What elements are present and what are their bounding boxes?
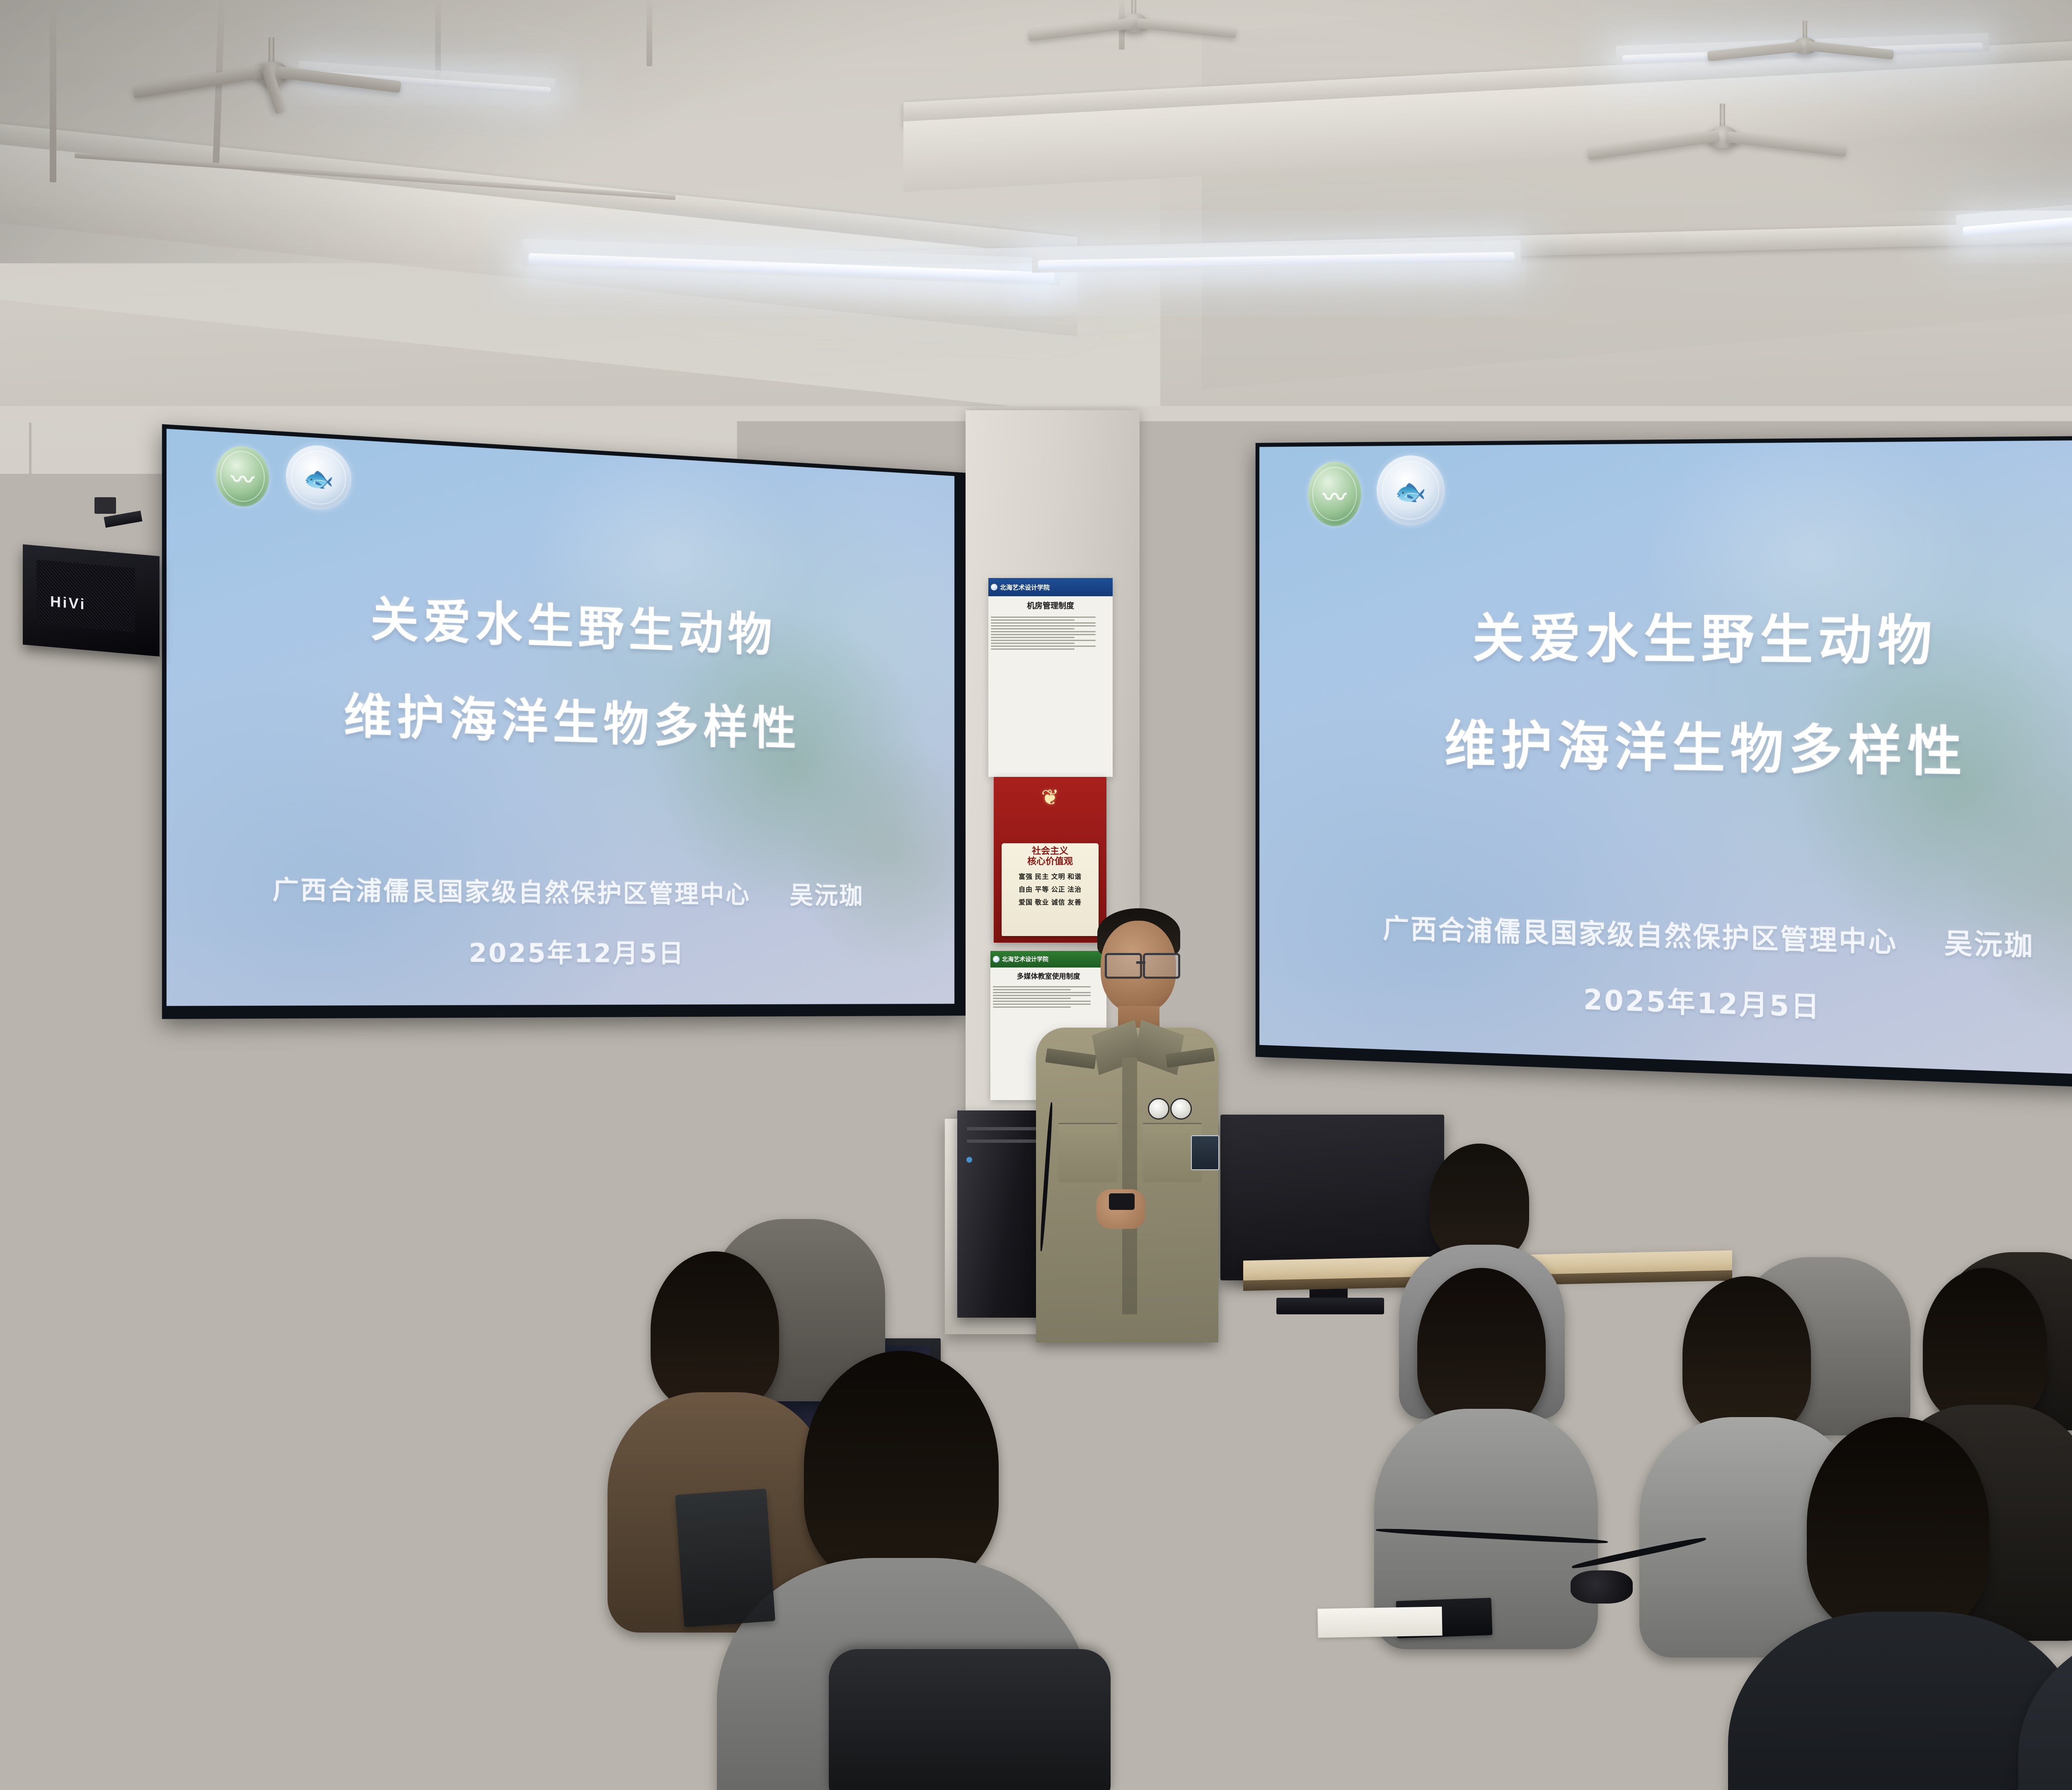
slide-title-line1: 关爱水生野生动物 bbox=[167, 572, 954, 671]
student-head bbox=[651, 1251, 779, 1409]
left-projection-screen: 〰 🐟 关爱水生野生动物 维护海洋生物多样性 广西合浦儒艮国家级自然保护区管理中… bbox=[162, 424, 966, 1019]
ceiling-fan-1 bbox=[166, 37, 381, 128]
uniform-badge-1 bbox=[1148, 1098, 1169, 1120]
aquatic-wildlife-emblem: 🐟 bbox=[1377, 455, 1445, 525]
projector-mount bbox=[94, 497, 116, 514]
uniform-badge-2 bbox=[1170, 1098, 1192, 1120]
fan-rod bbox=[269, 37, 274, 65]
uniform-button-placket bbox=[1122, 1057, 1137, 1314]
slide-presenter-name: 吴沅珈 bbox=[789, 881, 864, 910]
core-values-heading-1: 社会主义 bbox=[1003, 846, 1097, 856]
poster-header-bar: 北海艺术设计学院 bbox=[988, 578, 1113, 596]
school-logo-icon bbox=[991, 584, 997, 590]
poster-header-text: 北海艺术设计学院 bbox=[1000, 583, 1050, 592]
slide-date: 2025年12月5日 bbox=[1259, 967, 2072, 1037]
uniform-chest-pocket-left bbox=[1058, 1123, 1117, 1182]
student-head bbox=[224, 1525, 419, 1757]
student-head bbox=[294, 1131, 394, 1247]
ceiling-fan-2 bbox=[1048, 0, 1227, 70]
fan-blade bbox=[1806, 41, 1894, 60]
student-shoulders bbox=[414, 1409, 630, 1645]
student-head bbox=[1430, 1144, 1529, 1260]
student-head bbox=[431, 1127, 530, 1247]
poster-lab-rules: 北海艺术设计学院 机房管理制度 bbox=[988, 578, 1113, 777]
nature-reserve-emblem: 〰 bbox=[1308, 462, 1361, 526]
slide-presenter-name: 吴沅珈 bbox=[1944, 927, 2035, 962]
core-values-heading-2: 核心价值观 bbox=[1003, 856, 1097, 866]
emblem-glyph: 🐟 bbox=[1395, 477, 1426, 507]
student-head bbox=[66, 1284, 191, 1434]
fan-blade bbox=[1137, 18, 1237, 39]
student-head bbox=[744, 1110, 848, 1235]
slide-organization: 广西合浦儒艮国家级自然保护区管理中心 bbox=[1383, 913, 1898, 958]
nature-reserve-emblem: 〰 bbox=[216, 445, 269, 508]
monitor-stand-base bbox=[1276, 1298, 1384, 1314]
ceiling-fan-3 bbox=[1616, 104, 1832, 191]
slide-title-line1: 关爱水生野生动物 bbox=[1259, 595, 2072, 677]
wall-seam-left bbox=[29, 423, 31, 1127]
core-values-row-2: 自由 平等 公正 法治 bbox=[1003, 884, 1097, 894]
student-head bbox=[588, 1110, 692, 1235]
paper-sheet bbox=[1317, 1606, 1442, 1638]
hivi-wall-speaker: HiVi bbox=[23, 544, 160, 657]
lcd-monitor bbox=[1220, 1115, 1444, 1280]
aquatic-wildlife-emblem: 🐟 bbox=[286, 444, 351, 511]
slide-title-line2: 维护海洋生物多样性 bbox=[1259, 701, 2072, 790]
emblem-glyph: 〰 bbox=[1323, 478, 1346, 513]
emblem-glyph: 〰 bbox=[231, 461, 254, 494]
tower-power-led bbox=[966, 1157, 972, 1163]
student-head bbox=[1807, 1417, 1989, 1633]
slide-date: 2025年12月5日 bbox=[167, 930, 954, 970]
school-logo-icon bbox=[993, 956, 1000, 963]
student-head bbox=[804, 1351, 999, 1583]
backpack bbox=[829, 1649, 1111, 1790]
student-head bbox=[1417, 1268, 1546, 1425]
uniform-arm-patch bbox=[1191, 1135, 1219, 1170]
student-head bbox=[1682, 1276, 1811, 1434]
student-head bbox=[149, 1119, 253, 1239]
fan-blade bbox=[1726, 131, 1847, 157]
emblem-glyph: 🐟 bbox=[303, 464, 334, 494]
right-projection-screen: 〰 🐟 关爱水生野生动物 维护海洋生物多样性 广西合浦儒艮国家级自然保护区管理中… bbox=[1256, 435, 2072, 1091]
core-values-row-1: 富强 民主 文明 和谐 bbox=[1003, 871, 1097, 881]
chair-back[interactable] bbox=[675, 1489, 775, 1628]
student-head bbox=[1923, 1268, 2047, 1421]
student-head bbox=[249, 1264, 381, 1421]
torch-icon: ❦ bbox=[1041, 787, 1059, 808]
poster-title: 机房管理制度 bbox=[988, 600, 1113, 611]
presenter-glasses bbox=[1143, 953, 1180, 979]
fan-rod bbox=[1720, 104, 1725, 129]
slide-title-line2: 维护海洋生物多样性 bbox=[167, 672, 954, 762]
ceiling-conduit-1 bbox=[50, 0, 56, 182]
presenter-glasses bbox=[1105, 953, 1142, 979]
ceiling-fan-4 bbox=[1724, 21, 1890, 87]
classroom-photo: 〰 🐟 关爱水生野生动物 维护海洋生物多样性 广西合浦儒艮国家级自然保护区管理中… bbox=[0, 0, 2072, 1790]
ceiling-conduit-4 bbox=[646, 0, 652, 66]
student-head bbox=[456, 1272, 580, 1425]
hivi-brand-label: HiVi bbox=[50, 593, 86, 614]
student-head bbox=[1973, 1144, 2072, 1268]
glasses-bridge bbox=[1136, 961, 1145, 964]
poster-body-lines bbox=[988, 613, 1113, 653]
presenter bbox=[1028, 903, 1222, 1342]
chair-back[interactable] bbox=[1704, 1506, 1806, 1635]
earphones-on-desk[interactable] bbox=[1571, 1570, 1633, 1604]
slide-organization: 广西合浦儒艮国家级自然保护区管理中心 bbox=[273, 875, 751, 909]
student-head bbox=[1769, 1152, 1873, 1272]
remote-presenter-device bbox=[1109, 1193, 1135, 1210]
